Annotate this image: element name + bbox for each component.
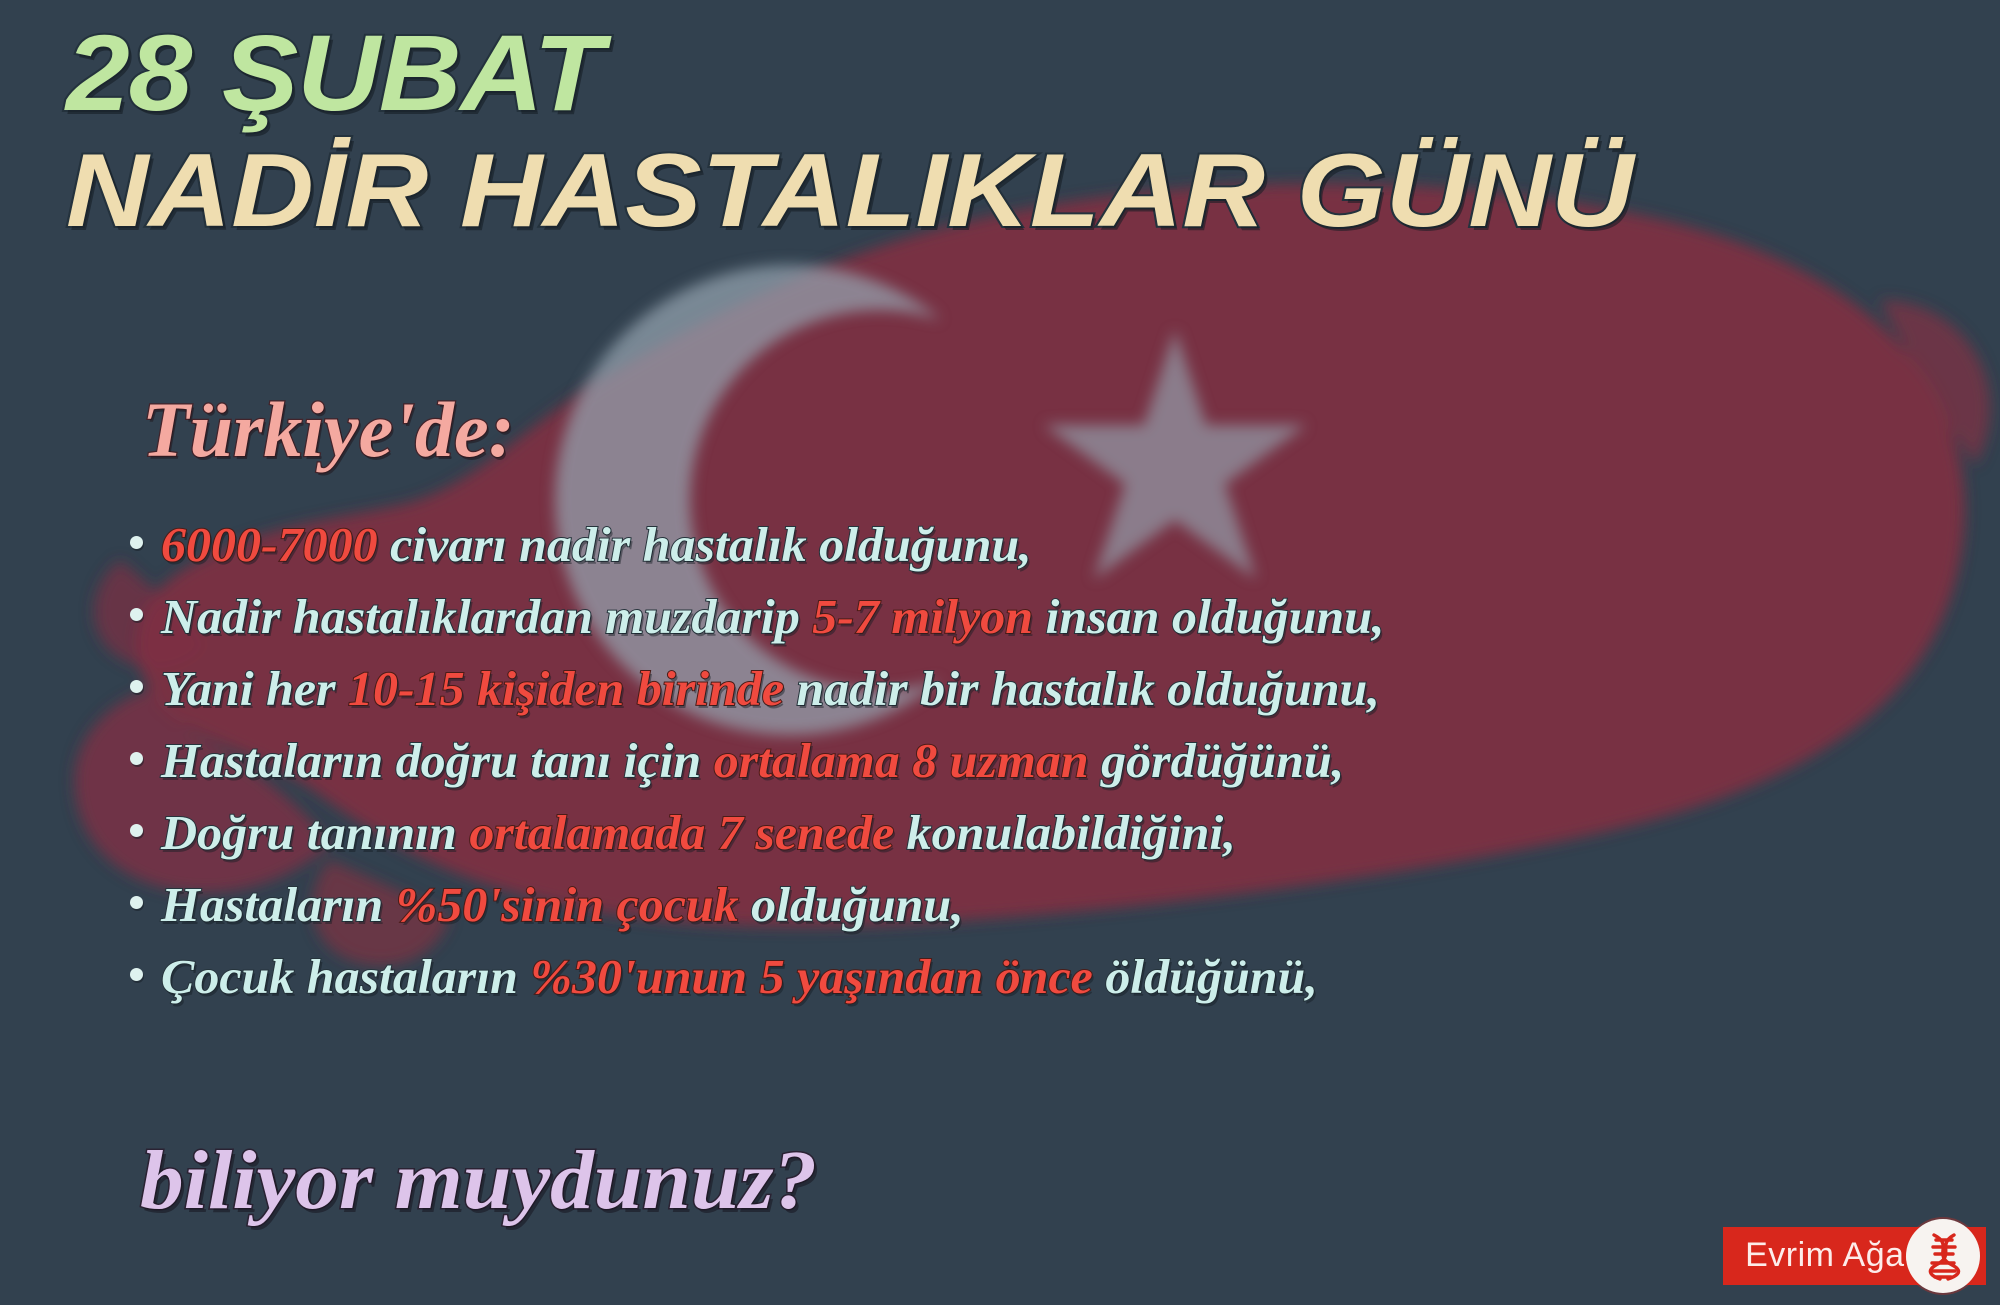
fact-plain: Hastaların doğru tanı için xyxy=(161,733,714,788)
fact-plain: Nadir hastalıklardan muzdarip xyxy=(161,589,812,644)
fact-plain: Doğru tanının xyxy=(161,805,469,860)
fact-item: Doğru tanının ortalamada 7 senede konula… xyxy=(130,808,1930,880)
bullet-dot-icon xyxy=(130,608,143,621)
fact-plain: Çocuk hastaların xyxy=(161,949,530,1004)
fact-item: 6000-7000 civarı nadir hastalık olduğunu… xyxy=(130,520,1930,592)
facts-list: 6000-7000 civarı nadir hastalık olduğunu… xyxy=(130,520,1930,1024)
bullet-dot-icon xyxy=(130,536,143,549)
fact-plain: nadir bir hastalık olduğunu, xyxy=(784,661,1380,716)
fact-highlight: %50'sinin çocuk xyxy=(396,877,739,932)
fact-plain: Hastaların xyxy=(161,877,396,932)
bullet-dot-icon xyxy=(130,968,143,981)
fact-highlight: 6000-7000 xyxy=(161,517,378,572)
poster-title: 28 ŞUBAT NADİR HASTALIKLAR GÜNÜ xyxy=(66,18,1996,244)
brand-logo[interactable]: Evrim Ağacı xyxy=(1723,1225,1986,1287)
fact-highlight: 5-7 milyon xyxy=(812,589,1033,644)
bullet-dot-icon xyxy=(130,680,143,693)
fact-plain: civarı nadir hastalık olduğunu, xyxy=(378,517,1032,572)
fact-plain: Yani her xyxy=(161,661,348,716)
fact-highlight: %30'unun 5 yaşından önce xyxy=(530,949,1092,1004)
fact-plain: gördüğünü, xyxy=(1089,733,1345,788)
bullet-dot-icon xyxy=(130,896,143,909)
infographic-poster: 28 ŞUBAT NADİR HASTALIKLAR GÜNÜ Türkiye'… xyxy=(0,0,2000,1305)
fact-highlight: ortalamada 7 senede xyxy=(469,805,894,860)
fact-plain: öldüğünü, xyxy=(1093,949,1318,1004)
fact-text: 6000-7000 civarı nadir hastalık olduğunu… xyxy=(161,520,1032,569)
fact-item: Nadir hastalıklardan muzdarip 5-7 milyon… xyxy=(130,592,1930,664)
title-line-occasion: NADİR HASTALIKLAR GÜNÜ xyxy=(66,138,2000,244)
fact-plain: konulabildiğini, xyxy=(894,805,1236,860)
fact-item: Hastaların %50'sinin çocuk olduğunu, xyxy=(130,880,1930,952)
fact-plain: insan olduğunu, xyxy=(1033,589,1384,644)
footer-question: biliyor muydunuz? xyxy=(140,1132,817,1229)
fact-text: Yani her 10-15 kişiden birinde nadir bir… xyxy=(161,664,1380,713)
fact-text: Hastaların %50'sinin çocuk olduğunu, xyxy=(161,880,964,929)
fact-item: Çocuk hastaların %30'unun 5 yaşından önc… xyxy=(130,952,1930,1024)
section-heading-turkiye: Türkiye'de: xyxy=(142,385,515,475)
fact-item: Yani her 10-15 kişiden birinde nadir bir… xyxy=(130,664,1930,736)
dna-helix-icon xyxy=(1906,1219,1980,1293)
fact-highlight: 10-15 kişiden birinde xyxy=(348,661,784,716)
bullet-dot-icon xyxy=(130,752,143,765)
fact-plain: olduğunu, xyxy=(739,877,964,932)
fact-text: Doğru tanının ortalamada 7 senede konula… xyxy=(161,808,1236,857)
fact-text: Çocuk hastaların %30'unun 5 yaşından önc… xyxy=(161,952,1318,1001)
bullet-dot-icon xyxy=(130,824,143,837)
fact-text: Hastaların doğru tanı için ortalama 8 uz… xyxy=(161,736,1344,785)
title-line-date: 28 ŞUBAT xyxy=(66,18,2000,128)
fact-highlight: ortalama 8 uzman xyxy=(714,733,1089,788)
fact-item: Hastaların doğru tanı için ortalama 8 uz… xyxy=(130,736,1930,808)
fact-text: Nadir hastalıklardan muzdarip 5-7 milyon… xyxy=(161,592,1385,641)
